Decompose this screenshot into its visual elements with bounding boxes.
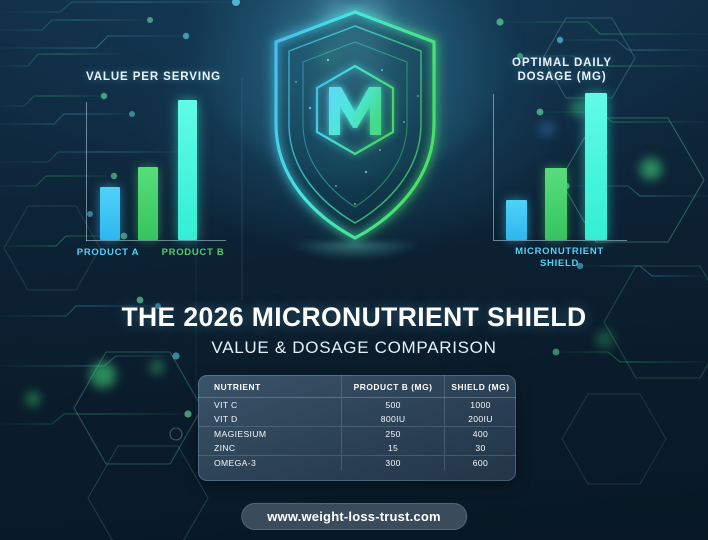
chart-right-xaxis [493, 240, 627, 241]
bar-product-a [100, 187, 120, 240]
bg-glow-green-1 [90, 362, 116, 388]
chart-title-left: VALUE PER SERVING [86, 70, 226, 84]
cell-product-b: 300 [342, 456, 445, 471]
cell-nutrient: VIT C [198, 398, 342, 413]
cell-product-b: 800IU [342, 412, 445, 427]
table-header-product-b: PRODUCT B (MG) [342, 375, 445, 398]
bar-dose-mid [545, 168, 567, 240]
cell-shield: 600 [444, 456, 516, 471]
bg-glow-green-2 [640, 158, 662, 180]
cell-shield: 200IU [444, 412, 516, 427]
table-row: ZINC 15 30 [198, 441, 516, 456]
cell-nutrient: VIT D [198, 412, 342, 427]
shield-logo [262, 4, 448, 254]
cell-nutrient: MAGIESIUM [198, 427, 342, 442]
table-header-shield: SHIELD (MG) [444, 375, 516, 398]
chart-left-category-product-a: PRODUCT A [73, 247, 143, 259]
cell-nutrient: OMEGA-3 [198, 456, 342, 471]
table-header-row: NUTRIENT PRODUCT B (MG) SHIELD (MG) [198, 375, 516, 398]
cell-shield: 1000 [444, 398, 516, 413]
table-row: VIT C 500 1000 [198, 398, 516, 413]
bar-shield [178, 100, 197, 240]
page-subtitle: VALUE & DOSAGE COMPARISON [0, 338, 708, 358]
cell-product-b: 15 [342, 441, 445, 456]
bar-product-b [138, 167, 158, 240]
chart-title-right: OPTIMAL DAILY DOSAGE (MG) [487, 56, 637, 84]
cell-nutrient: ZINC [198, 441, 342, 456]
nutrient-comparison-table: NUTRIENT PRODUCT B (MG) SHIELD (MG) VIT … [198, 375, 516, 470]
infographic-canvas: VALUE PER SERVING PRODUCT A PRODUCT B OP… [0, 0, 708, 540]
chart-right-category-shield: MICRONUTRIENT SHIELD [487, 246, 632, 270]
chart-left-category-product-b: PRODUCT B [158, 247, 228, 259]
bg-glow-green-6 [150, 360, 164, 374]
table-header-nutrient: NUTRIENT [198, 375, 342, 398]
cell-shield: 30 [444, 441, 516, 456]
comparison-table-panel: NUTRIENT PRODUCT B (MG) SHIELD (MG) VIT … [198, 375, 516, 481]
chart-left-xaxis [86, 240, 226, 241]
cell-product-b: 500 [342, 398, 445, 413]
website-url-pill[interactable]: www.weight-loss-trust.com [241, 503, 467, 530]
shield-reflection [290, 242, 420, 260]
cell-shield: 400 [444, 427, 516, 442]
bar-dose-shield [585, 93, 607, 240]
cell-product-b: 250 [342, 427, 445, 442]
page-title: THE 2026 MICRONUTRIENT SHIELD [0, 302, 708, 333]
table-row: VIT D 800IU 200IU [198, 412, 516, 427]
bar-dose-low [506, 200, 527, 240]
bg-glow-green-5 [26, 392, 40, 406]
table-row: MAGIESIUM 250 400 [198, 427, 516, 442]
table-row: OMEGA-3 300 600 [198, 456, 516, 471]
chart-optimal-daily-dosage: OPTIMAL DAILY DOSAGE (MG) MICRONUTRIENT … [492, 52, 627, 270]
chart-value-per-serving: VALUE PER SERVING PRODUCT A PRODUCT B [86, 60, 226, 260]
